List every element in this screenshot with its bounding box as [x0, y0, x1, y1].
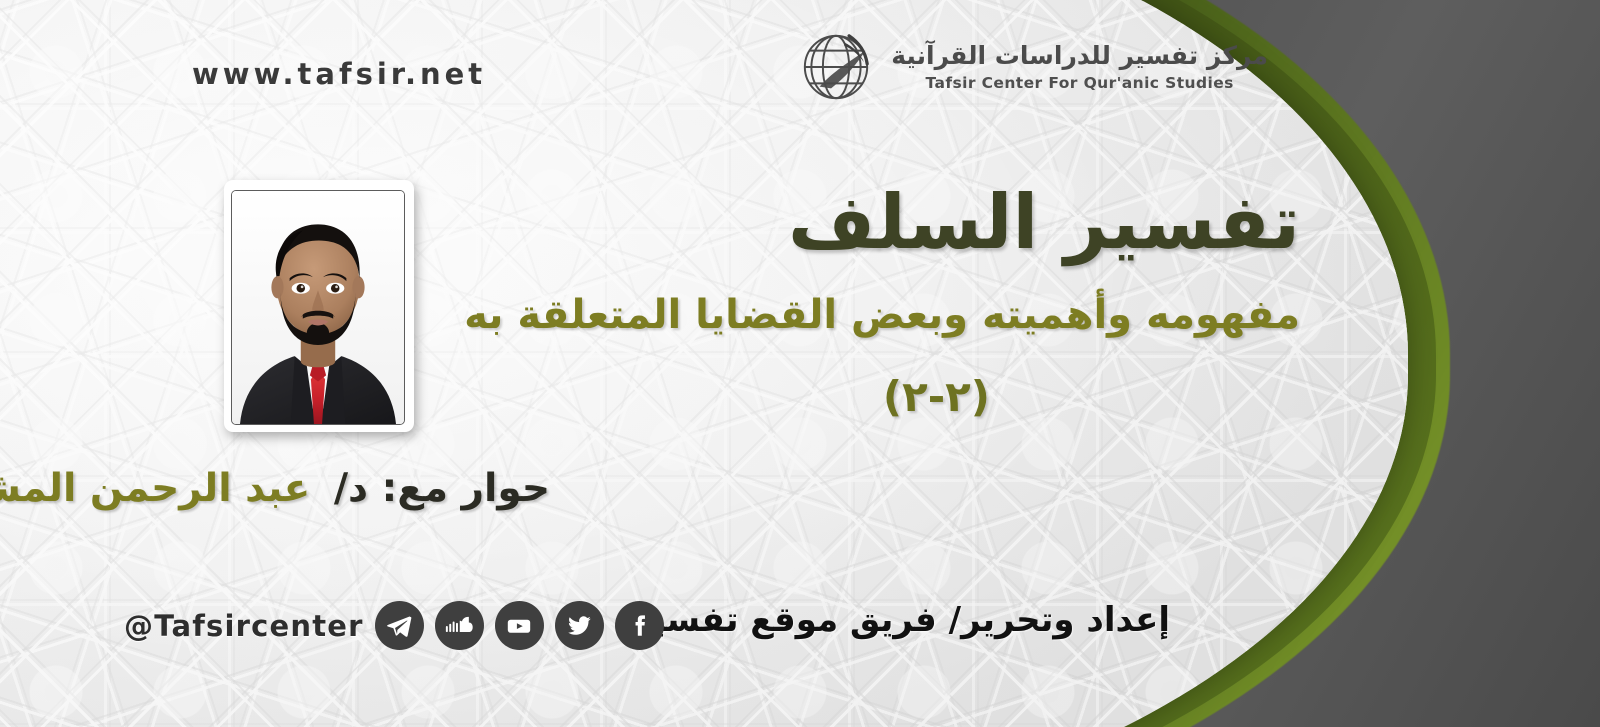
social-handle[interactable]: @Tafsircenter [124, 609, 364, 643]
credits-text: إعداد وتحرير/ فريق موقع تفسير [632, 600, 1170, 640]
brand-logo-english: Tafsir Center For Qur'anic Studies [891, 74, 1268, 92]
speaker-portrait-photo [231, 190, 405, 425]
brand-logo-arabic: مركز تفسير للدراسات القرآنية [891, 42, 1268, 70]
speaker-portrait-frame [224, 180, 414, 432]
twitter-icon[interactable] [555, 601, 604, 650]
social-links: @Tafsircenter [108, 601, 664, 650]
page-title: تفسير السلف [788, 178, 1300, 266]
soundcloud-icon[interactable] [435, 601, 484, 650]
facebook-icon[interactable] [615, 601, 664, 650]
episode-part-number: (٢-٢) [883, 372, 990, 421]
guest-name: عبد الرحمن المشدّ [0, 466, 310, 511]
content-layer: www.tafsir.net مركز تفسير للدراسات القرآ… [0, 0, 1600, 727]
telegram-icon[interactable] [375, 601, 424, 650]
youtube-icon[interactable] [495, 601, 544, 650]
guest-label: حوار مع: د/ [334, 466, 550, 511]
tafsir-globe-logo-icon [795, 26, 877, 108]
brand-logo-text: مركز تفسير للدراسات القرآنية Tafsir Cent… [891, 42, 1268, 92]
brand-logo[interactable]: مركز تفسير للدراسات القرآنية Tafsir Cent… [795, 26, 1268, 108]
page-subtitle: مفهومه وأهميته وبعض القضايا المتعلقة به [464, 292, 1300, 338]
site-url[interactable]: www.tafsir.net [192, 57, 486, 91]
guest-line: حوار مع: د/ عبد الرحمن المشدّ [0, 466, 550, 511]
banner-canvas: www.tafsir.net مركز تفسير للدراسات القرآ… [0, 0, 1600, 727]
